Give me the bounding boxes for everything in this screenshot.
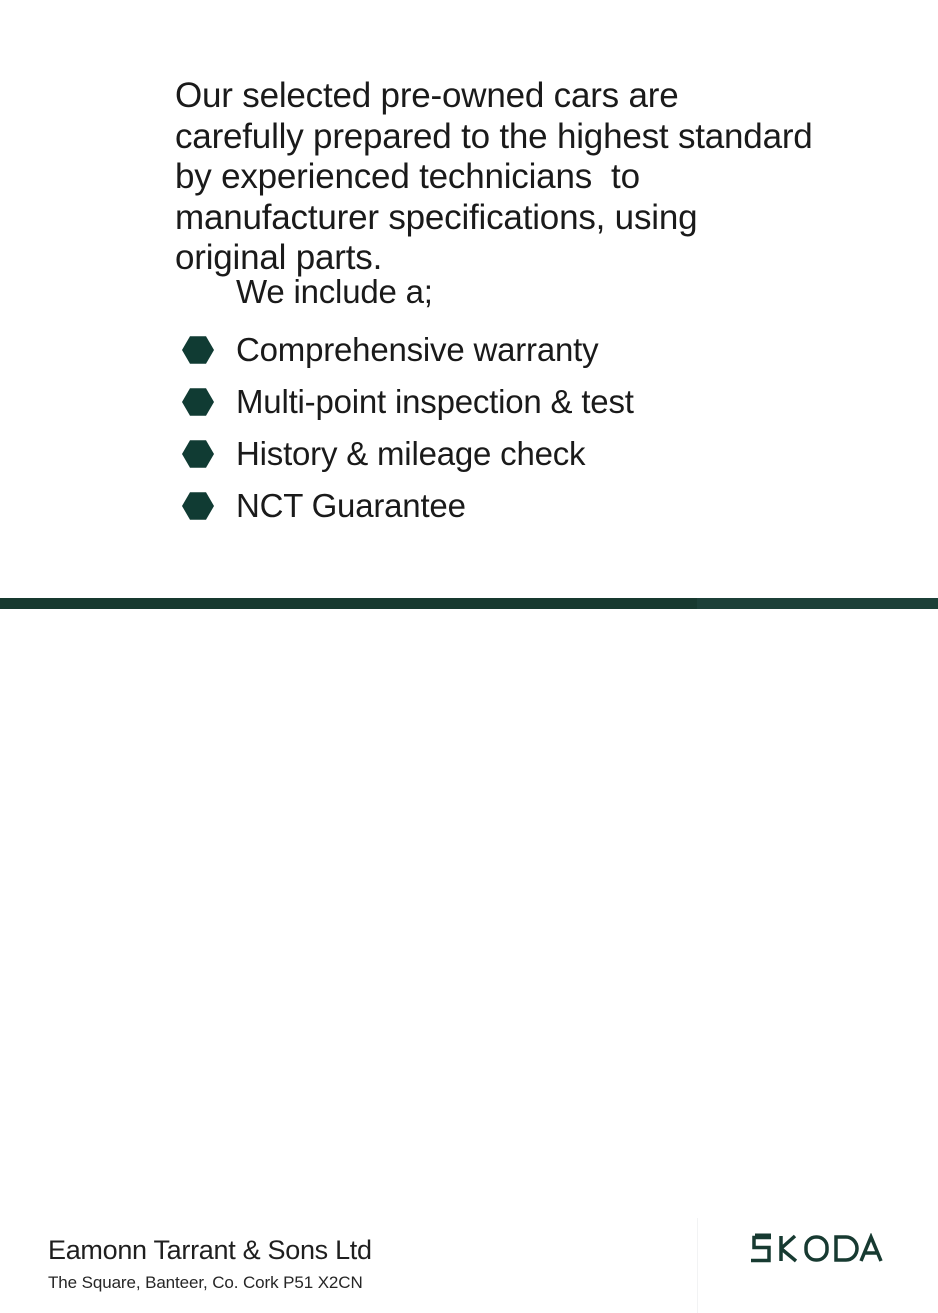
list-item-label: History & mileage check — [236, 436, 585, 472]
list-item: NCT Guarantee — [182, 480, 634, 532]
skoda-wordmark-logo — [748, 1233, 893, 1265]
headline-paragraph: Our selected pre-owned cars are carefull… — [175, 76, 815, 279]
footer-vertical-divider — [697, 1218, 698, 1313]
footer: Eamonn Tarrant & Sons Ltd The Square, Ba… — [0, 609, 938, 704]
slide-root: Our selected pre-owned cars are carefull… — [0, 0, 938, 704]
benefits-list: Comprehensive warranty Multi-point inspe… — [182, 324, 634, 532]
list-item: Multi-point inspection & test — [182, 376, 634, 428]
list-item: Comprehensive warranty — [182, 324, 634, 376]
list-item-label: NCT Guarantee — [236, 488, 466, 524]
list-item-label: Comprehensive warranty — [236, 332, 598, 368]
dealer-name: Eamonn Tarrant & Sons Ltd — [48, 1234, 372, 1267]
hexagon-bullet-icon — [182, 387, 214, 417]
dealer-address: The Square, Banteer, Co. Cork P51 X2CN — [48, 1272, 363, 1294]
footer-accent-bar-right-segment — [697, 598, 938, 609]
list-item: History & mileage check — [182, 428, 634, 480]
hexagon-bullet-icon — [182, 491, 214, 521]
list-item-label: Multi-point inspection & test — [236, 384, 634, 420]
include-intro-text: We include a; — [236, 272, 433, 312]
hexagon-bullet-icon — [182, 439, 214, 469]
hexagon-bullet-icon — [182, 335, 214, 365]
